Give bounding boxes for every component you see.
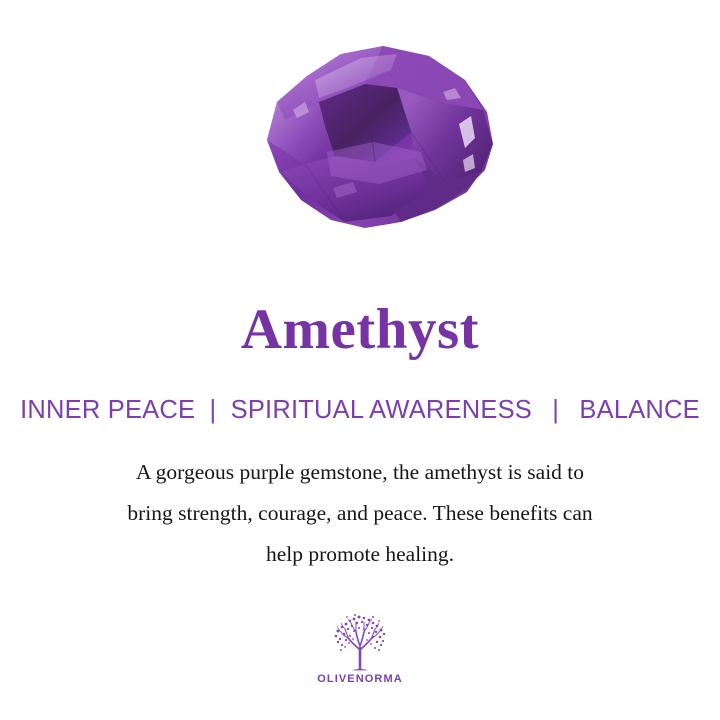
product-title: Amethyst (0, 300, 720, 360)
amethyst-raw-crystal-icon (215, 40, 505, 245)
tagline-keyword-3: BALANCE (579, 396, 699, 424)
tagline-separator-1: | (203, 396, 224, 424)
tagline-keyword-2: SPIRITUAL AWARENESS (231, 396, 532, 424)
brand-logo: OLIVENORMA (0, 612, 720, 685)
product-description: A gorgeous purple gemstone, the amethyst… (60, 452, 660, 575)
tagline-separator-2: | (539, 396, 572, 424)
brand-name: OLIVENORMA (317, 673, 403, 685)
amethyst-product-card: Amethyst INNER PEACE | SPIRITUAL AWARENE… (0, 0, 720, 720)
description-line-1: A gorgeous purple gemstone, the amethyst… (60, 452, 660, 493)
amethyst-crystal-image (0, 0, 720, 285)
olivenorma-tree-logo-icon (329, 612, 391, 672)
tagline-keyword-1: INNER PEACE (20, 396, 195, 424)
description-line-3: help promote healing. (60, 534, 660, 575)
product-tagline: INNER PEACE | SPIRITUAL AWARENESS | BALA… (0, 396, 720, 424)
description-line-2: bring strength, courage, and peace. Thes… (60, 493, 660, 534)
